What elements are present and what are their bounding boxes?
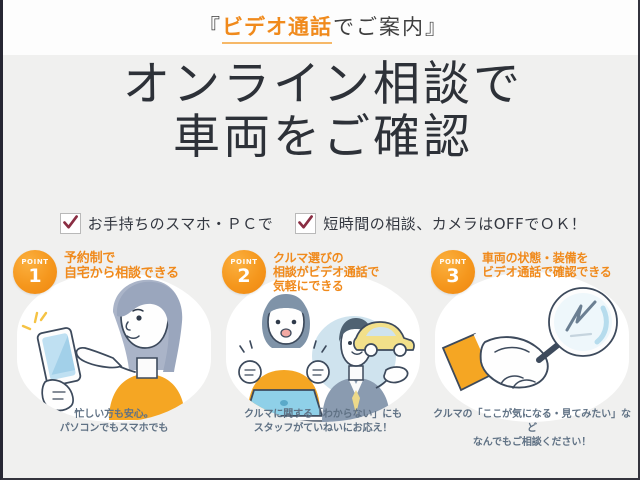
point-card-3-head: POINT 3 車両の状態・装備を ビデオ通話で確認できる: [431, 250, 633, 296]
point-caption-2-line-2: スタッフがていねいにお応え！: [222, 422, 424, 436]
point-card-2-head: POINT 2 クルマ選びの 相談がビデオ通話で 気軽にできる: [222, 250, 424, 296]
point-heading-1: 予約制で 自宅から相談できる: [64, 250, 179, 281]
point-heading-3: 車両の状態・装備を ビデオ通話で確認できる: [482, 250, 612, 279]
badge-number: 2: [237, 267, 250, 286]
point-badge-2: POINT 2: [222, 250, 266, 294]
check-label-2: 短時間の相談、カメラはOFFでＯＫ！: [323, 213, 586, 234]
point-caption-3-line-2: なんでもご相談ください！: [431, 436, 633, 450]
title-line-1: オンライン相談で: [3, 58, 640, 111]
badge-number: 3: [446, 267, 459, 286]
feature-check-row: お手持ちのスマホ・ＰＣで 短時間の相談、カメラはOFFでＯＫ！: [3, 213, 640, 234]
bracket-open: 『: [199, 11, 221, 41]
point-heading-2: クルマ選びの 相談がビデオ通話で 気軽にできる: [273, 250, 379, 293]
badge-label: POINT: [439, 259, 466, 266]
check-item-1: お手持ちのスマホ・ＰＣで: [60, 213, 274, 234]
header-band: 『 ビデオ通話 でご案内 』: [3, 0, 640, 55]
kicker-text: 『 ビデオ通話 でご案内 』: [199, 11, 447, 44]
point-card-3: POINT 3 車両の状態・装備を ビデオ通話で確認できる クルマの「ここが気に…: [431, 250, 633, 450]
point-badge-3: POINT 3: [431, 250, 475, 294]
point-caption-2: クルマに関する「わからない」にも スタッフがていねいにお応え！: [222, 408, 424, 436]
page-title: オンライン相談で 車両をご確認: [3, 58, 640, 164]
point-heading-1-line-1: 予約制で: [64, 251, 179, 266]
point-heading-2-line-2: 相談がビデオ通話で: [273, 265, 379, 279]
kicker-plain: でご案内: [333, 11, 425, 41]
check-label-1: お手持ちのスマホ・ＰＣで: [88, 213, 274, 234]
point-caption-1-line-1: 忙しい方も安心。: [13, 408, 215, 422]
bracket-close: 』: [425, 11, 447, 41]
point-caption-2-line-1: クルマに関する「わからない」にも: [222, 408, 424, 422]
point-heading-3-line-2: ビデオ通話で確認できる: [482, 265, 612, 279]
point-caption-1: 忙しい方も安心。 パソコンでもスマホでも: [13, 408, 215, 436]
point-heading-2-line-3: 気軽にできる: [273, 279, 379, 293]
point-card-list: POINT 1 予約制で 自宅から相談できる 忙しい方も安心。 パソコンでもスマ…: [3, 250, 640, 462]
point-heading-3-line-1: 車両の状態・装備を: [482, 251, 612, 265]
point-heading-2-line-1: クルマ選びの: [273, 251, 379, 265]
badge-label: POINT: [230, 259, 257, 266]
point-card-2: POINT 2 クルマ選びの 相談がビデオ通話で 気軽にできる クルマに関する「…: [222, 250, 424, 450]
point-card-1-head: POINT 1 予約制で 自宅から相談できる: [13, 250, 215, 296]
badge-label: POINT: [21, 259, 48, 266]
point-card-1: POINT 1 予約制で 自宅から相談できる 忙しい方も安心。 パソコンでもスマ…: [13, 250, 215, 450]
check-icon: [295, 213, 316, 234]
check-item-2: 短時間の相談、カメラはOFFでＯＫ！: [295, 213, 586, 234]
point-heading-1-line-2: 自宅から相談できる: [64, 266, 179, 281]
promo-page: 『 ビデオ通話 でご案内 』 オンライン相談で 車両をご確認 お手持ちのスマホ・…: [0, 0, 640, 480]
point-caption-3: クルマの「ここが気になる・見てみたい」など なんでもご相談ください！: [431, 408, 633, 450]
badge-number: 1: [28, 267, 41, 286]
title-line-2: 車両をご確認: [3, 111, 640, 164]
check-icon: [60, 213, 81, 234]
kicker-highlight: ビデオ通話: [222, 11, 332, 44]
point-caption-3-line-1: クルマの「ここが気になる・見てみたい」など: [431, 408, 633, 436]
point-badge-1: POINT 1: [13, 250, 57, 294]
point-caption-1-line-2: パソコンでもスマホでも: [13, 422, 215, 436]
